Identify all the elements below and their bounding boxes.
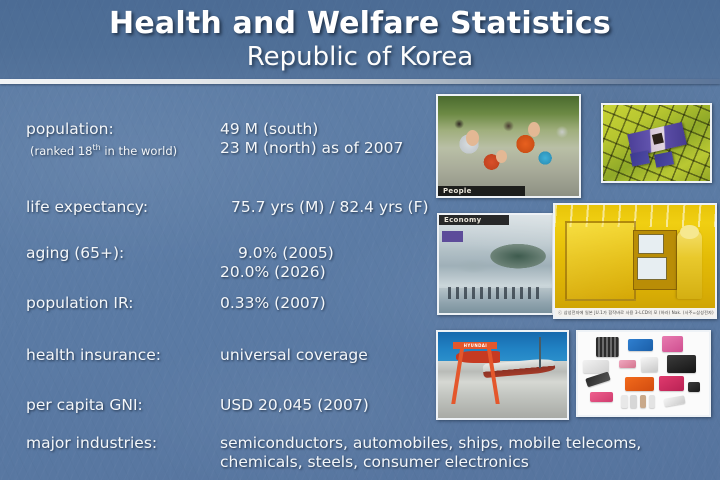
photo-shipyard: HYUNDAI [436, 330, 569, 420]
stat-label: life expectancy: [26, 198, 148, 216]
photo-people-caption: People [438, 186, 525, 196]
photo-electronics-device [641, 357, 658, 372]
photo-shipyard-tower [539, 337, 541, 368]
photo-shipyard-crane-beam: HYUNDAI [453, 342, 497, 349]
photo-electronics-device [659, 376, 684, 391]
photo-electronics-device [590, 392, 614, 402]
stat-value-second: chemicals, steels, consumer electronics [220, 453, 529, 471]
slide-header: Health and Welfare Statistics Republic o… [0, 0, 720, 84]
slide: Health and Welfare Statistics Republic o… [0, 0, 720, 480]
photo-economy-caption: Economy [439, 215, 509, 225]
page-subtitle: Republic of Korea [0, 41, 720, 72]
photo-electronics-device [667, 355, 696, 373]
photo-economy-sign [442, 231, 462, 243]
stat-value: 9.0% (2005) [238, 244, 334, 262]
photo-semiconductor-wafer [601, 103, 712, 183]
photo-electronics-device [625, 377, 654, 391]
photo-electronics-device [596, 337, 618, 357]
photo-people: People [436, 94, 581, 198]
stat-value: 0.33% (2007) [220, 294, 326, 312]
photo-people-image [438, 96, 579, 196]
stat-value: 49 M (south) [220, 120, 318, 138]
photo-cleanroom-monitor [637, 257, 668, 280]
photo-electronics-device [649, 395, 656, 408]
stat-sublabel-sup: th [92, 143, 100, 152]
stat-label: population IR: [26, 294, 134, 312]
photo-electronics-device [630, 395, 637, 408]
stat-label: aging (65+): [26, 244, 124, 262]
photo-shipyard-crane-label: HYUNDAI [453, 342, 497, 349]
stat-value: universal coverage [220, 346, 368, 364]
stat-value-second: 23 M (north) as of 2007 [220, 139, 403, 157]
photo-economy: Economy [437, 213, 554, 315]
stat-value-second: 20.0% (2026) [220, 263, 326, 281]
photo-cleanroom: ⓒ 삼성전자에 일본 JU.1가 합작바로 사용 3-LCD의 모 (하라) N… [553, 203, 717, 319]
photo-electronics-device [621, 395, 628, 408]
photo-cleanroom-worker [677, 230, 703, 299]
photo-economy-people [448, 287, 543, 300]
stat-sublabel: (ranked 18th in the world) [30, 139, 177, 160]
page-title: Health and Welfare Statistics [0, 0, 720, 41]
stat-value: 75.7 yrs (M) / 82.4 yrs (F) [231, 198, 429, 216]
stat-label: health insurance: [26, 346, 161, 364]
photo-electronics-device [662, 336, 683, 352]
photo-electronics-device [619, 360, 636, 367]
stat-sublabel-post: in the world) [101, 144, 177, 158]
photo-cleanroom-caption: ⓒ 삼성전자에 일본 JU.1가 합작바로 사용 3-LCD의 모 (하라) N… [555, 308, 715, 317]
photo-people-figure [496, 150, 507, 163]
title-divider [0, 79, 720, 84]
photo-electronics-device [640, 395, 647, 408]
photo-electronics-device [628, 339, 653, 351]
stat-label: population: [26, 120, 114, 138]
stat-value: semiconductors, automobiles, ships, mobi… [220, 434, 641, 452]
photo-electronics-device [583, 360, 609, 372]
photo-consumer-electronics [576, 330, 711, 417]
photo-electronics-device [688, 382, 700, 392]
photo-cleanroom-monitor [638, 234, 664, 254]
photo-cleanroom-booth [565, 221, 636, 301]
stat-value: USD 20,045 (2007) [220, 396, 369, 414]
stat-sublabel-pre: (ranked 18 [30, 144, 92, 158]
stat-label: major industries: [26, 434, 157, 452]
stat-label: per capita GNI: [26, 396, 143, 414]
